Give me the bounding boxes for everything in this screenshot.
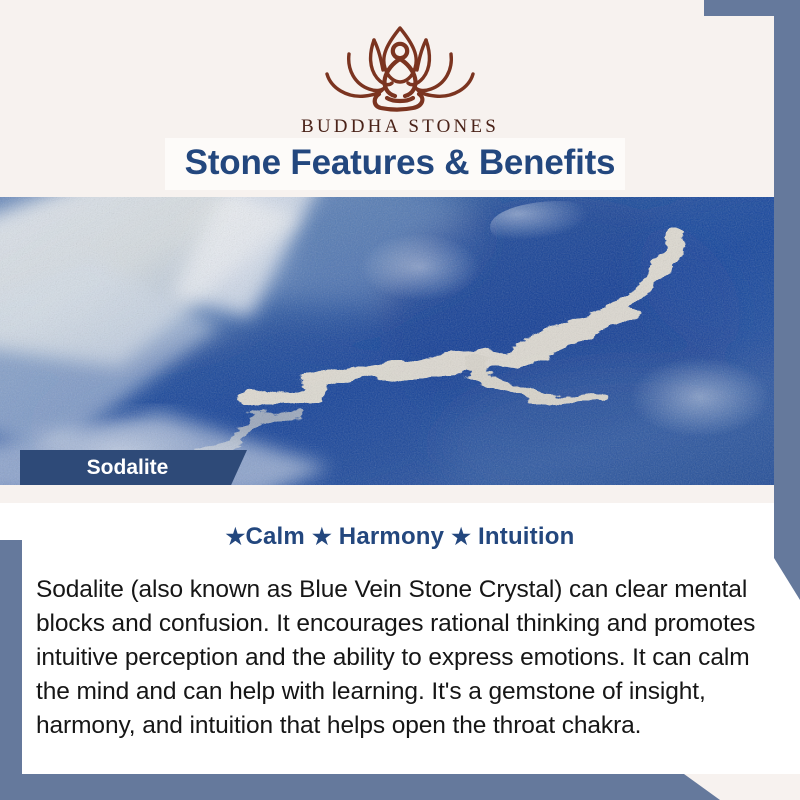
star-icon-1: ★ (226, 524, 246, 549)
frame-right (774, 0, 800, 600)
benefit-item-calm: Calm (245, 523, 305, 550)
benefits-list: ★Calm★ Harmony★ Intuition (0, 523, 800, 551)
brand-name: BUDDHA STONES (0, 116, 800, 138)
star-icon-3: ★ (451, 524, 471, 549)
stone-description: Sodalite (also known as Blue Vein Stone … (36, 573, 766, 743)
frame-left (0, 540, 22, 800)
content-top-band (0, 485, 800, 503)
stone-name: Sodalite (20, 450, 235, 485)
frame-bottom (0, 774, 680, 800)
content-section: ★Calm★ Harmony★ Intuition Sodalite (also… (0, 485, 800, 800)
benefit-item-intuition: Intuition (478, 523, 574, 550)
header-section: BUDDHA STONES Stone Features & Benefits (0, 0, 800, 197)
benefit-item-harmony: Harmony (339, 523, 444, 550)
page-title: Stone Features & Benefits (0, 140, 800, 186)
stone-photo (0, 197, 800, 485)
sodalite-texture-image (0, 197, 800, 485)
brand-logo: BUDDHA STONES (0, 18, 800, 138)
poster-root: BUDDHA STONES Stone Features & Benefits (0, 0, 800, 800)
star-icon-2: ★ (312, 524, 332, 549)
lotus-meditation-icon (307, 18, 493, 114)
